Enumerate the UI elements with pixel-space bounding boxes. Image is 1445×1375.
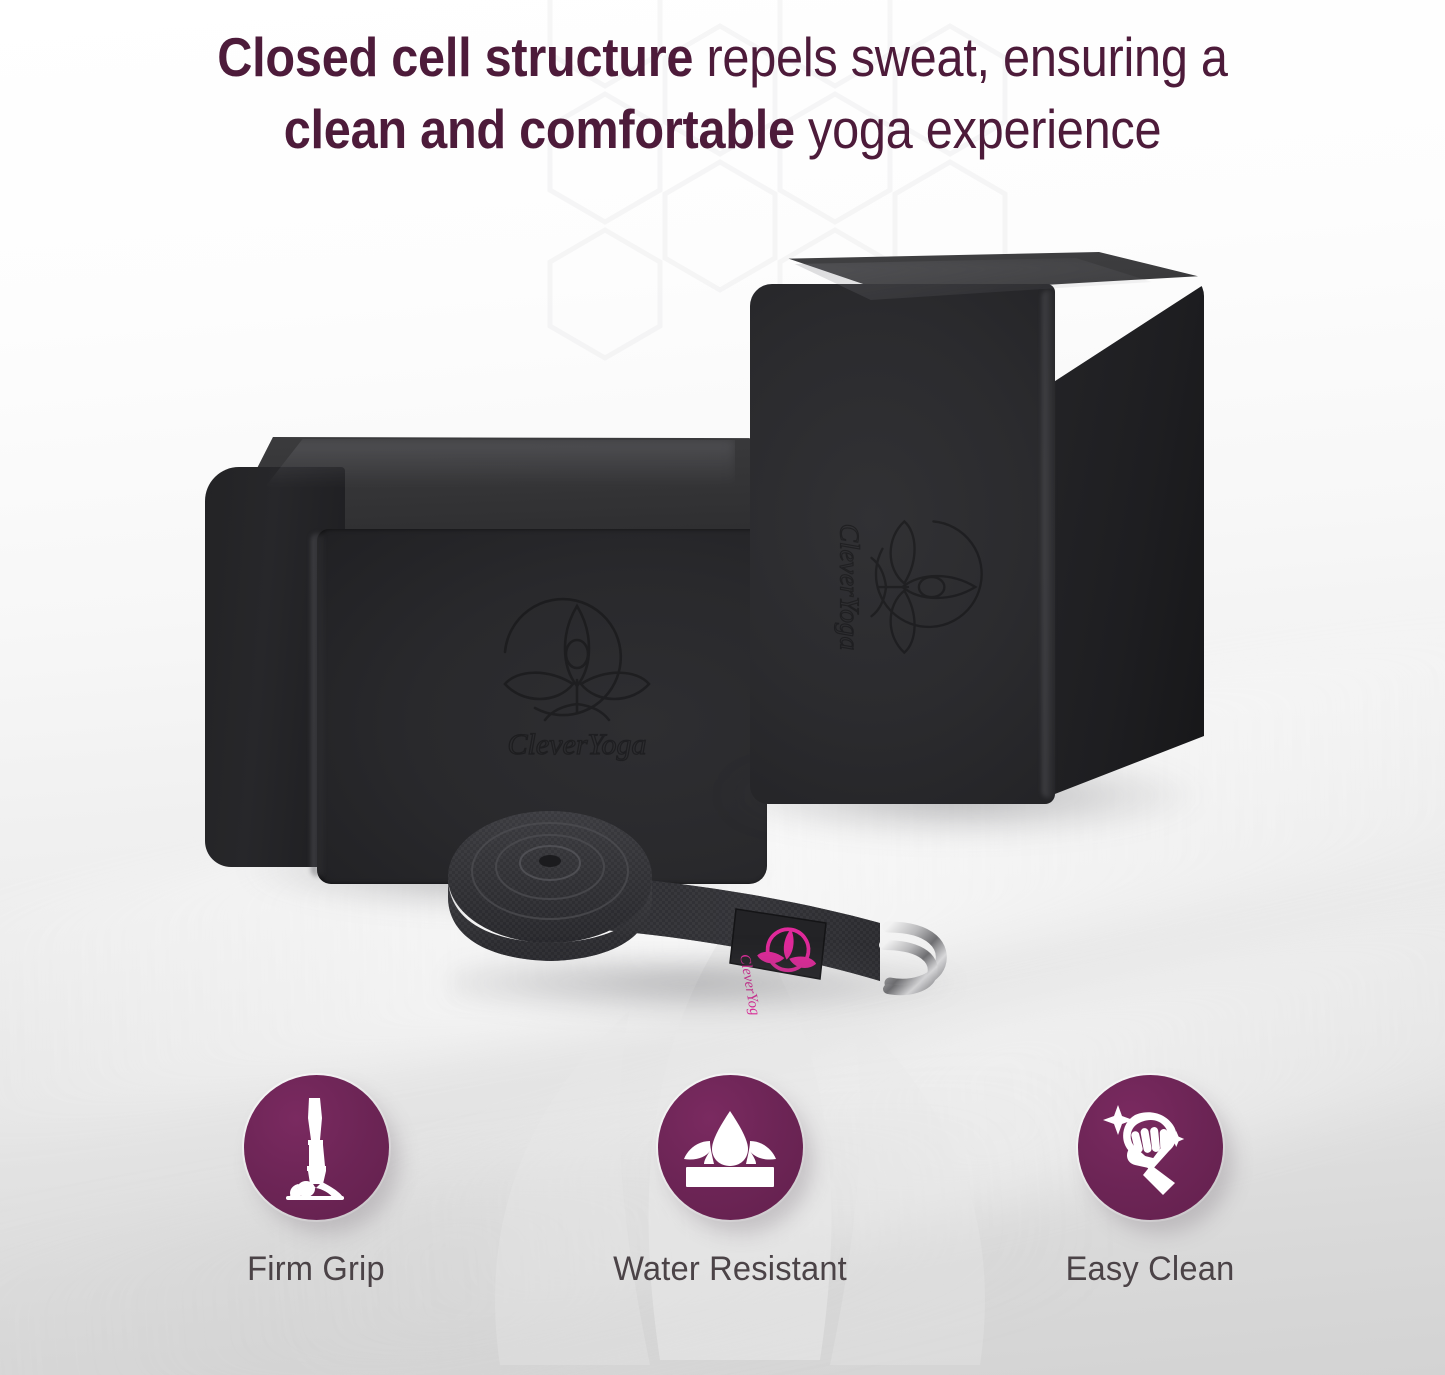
feature-firm-grip: Firm Grip	[166, 1075, 466, 1289]
feature-label: Easy Clean	[1006, 1250, 1294, 1289]
product-marketing-image: Closed cell structure repels sweat, ensu…	[0, 0, 1445, 1375]
headline-emphasis-2: clean and comfortable	[284, 98, 795, 160]
feature-easy-clean: Easy Clean	[1000, 1075, 1300, 1289]
strap-shadow	[450, 955, 970, 1017]
block-right-face	[1042, 274, 1204, 799]
water-droplet-surface-icon	[680, 1107, 780, 1189]
headline-rest-2: yoga experience	[795, 98, 1161, 160]
embossed-cleveryoga-logo-icon: CleverYoga	[795, 485, 1030, 690]
feature-label: Firm Grip	[172, 1250, 460, 1289]
headline-line-1: Closed cell structure repels sweat, ensu…	[83, 22, 1362, 94]
headline-emphasis-1: Closed cell structure	[217, 26, 693, 88]
embossed-cleveryoga-logo-icon: CleverYoga	[465, 580, 690, 770]
headline-rest-1: repels sweat, ensuring a	[693, 26, 1227, 88]
feature-icon-circle	[658, 1075, 803, 1220]
yoga-strap: CleverYoga	[440, 805, 980, 1015]
feature-badge-row: Firm Grip Water Resistant	[0, 1075, 1445, 1375]
block-top-gloss	[265, 439, 735, 487]
hand-wiping-cloth-icon	[1101, 1099, 1199, 1197]
embossed-logo-text: CleverYoga	[508, 728, 647, 761]
headline: Closed cell structure repels sweat, ensu…	[83, 22, 1362, 165]
feature-icon-circle	[244, 1075, 389, 1220]
block-edge-highlight	[1042, 290, 1055, 798]
feature-icon-circle	[1078, 1075, 1223, 1220]
headstand-yoga-pose-icon	[268, 1096, 364, 1200]
embossed-logo-text: CleverYoga	[835, 524, 865, 651]
feature-water-resistant: Water Resistant	[580, 1075, 880, 1289]
feature-label: Water Resistant	[586, 1250, 874, 1289]
block-edge-highlight	[311, 533, 325, 877]
headline-line-2: clean and comfortable yoga experience	[83, 94, 1362, 166]
